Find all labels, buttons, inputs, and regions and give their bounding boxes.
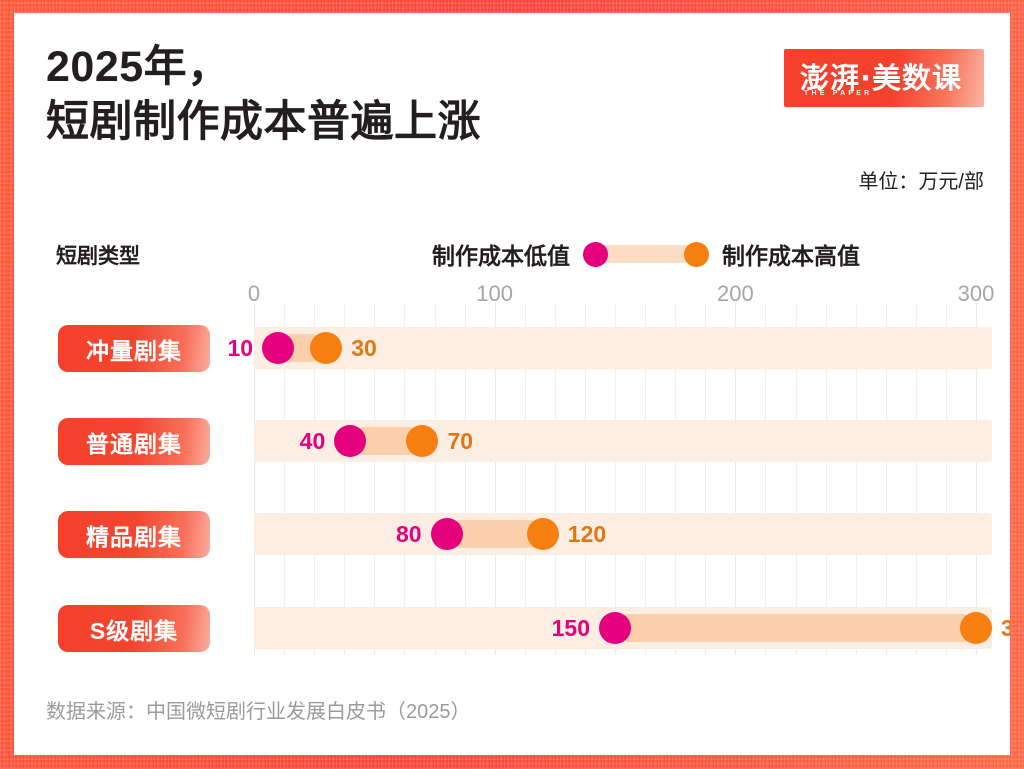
low-value-dot-icon[interactable]	[334, 425, 366, 457]
chart-area: 0100200300 冲量剧集1030普通剧集4070精品剧集80120S级剧集…	[14, 281, 1010, 671]
poster-canvas: 2025年， 短剧制作成本普遍上涨 澎湃·美数课 THE PAPER 单位：万元…	[0, 0, 1024, 769]
chart-row: 普通剧集4070	[14, 420, 1010, 468]
high-value-label: 300	[992, 615, 1010, 642]
chart-row: S级剧集150300	[14, 607, 1010, 655]
range-connector-bar	[615, 614, 976, 642]
x-tick-0: 0	[248, 281, 260, 307]
low-value-dot-icon[interactable]	[599, 612, 631, 644]
range-marker: 4070	[240, 427, 992, 455]
chart-legend: 制作成本低值 制作成本高值	[432, 237, 860, 271]
high-value-label: 120	[559, 521, 606, 548]
low-value-label: 10	[227, 335, 262, 362]
range-marker: 1030	[240, 334, 992, 362]
x-axis-tick-labels: 0100200300	[240, 281, 992, 311]
legend-swatch	[583, 241, 709, 267]
high-value-dot-icon[interactable]	[310, 332, 342, 364]
chart-row: 精品剧集80120	[14, 513, 1010, 561]
logo-subtitle: THE PAPER	[804, 90, 872, 97]
high-value-dot-icon[interactable]	[406, 425, 438, 457]
low-value-dot-icon[interactable]	[262, 332, 294, 364]
legend-label-high: 制作成本高值	[722, 237, 860, 271]
unit-label: 单位：万元/部	[858, 165, 984, 194]
range-marker: 150300	[240, 614, 992, 642]
category-pill-2[interactable]: 精品剧集	[58, 511, 210, 558]
high-value-label: 70	[438, 428, 473, 455]
range-marker: 80120	[240, 520, 992, 548]
high-value-label: 30	[342, 335, 377, 362]
source-note: 数据来源：中国微短剧行业发展白皮书（2025）	[46, 695, 471, 724]
title-line-1: 2025年，	[46, 40, 746, 95]
legend-label-low: 制作成本低值	[432, 237, 570, 271]
legend-high-dot-icon	[684, 242, 709, 267]
high-value-dot-icon[interactable]	[960, 612, 992, 644]
category-pill-3[interactable]: S级剧集	[58, 605, 210, 652]
low-value-dot-icon[interactable]	[431, 518, 463, 550]
category-axis-title: 短剧类型	[56, 240, 140, 270]
chart-row: 冲量剧集1030	[14, 327, 1010, 375]
x-tick-200: 200	[717, 281, 754, 307]
high-value-dot-icon[interactable]	[527, 518, 559, 550]
category-pill-1[interactable]: 普通剧集	[58, 418, 210, 465]
x-tick-300: 300	[958, 281, 995, 307]
low-value-label: 150	[552, 615, 599, 642]
publisher-logo: 澎湃·美数课 THE PAPER	[784, 49, 984, 107]
plot-area: 0100200300 冲量剧集1030普通剧集4070精品剧集80120S级剧集…	[240, 281, 992, 671]
legend-low-dot-icon	[583, 242, 608, 267]
low-value-label: 40	[300, 428, 335, 455]
infographic-canvas: 2025年， 短剧制作成本普遍上涨 澎湃·美数课 THE PAPER 单位：万元…	[14, 13, 1010, 755]
x-tick-100: 100	[476, 281, 513, 307]
low-value-label: 80	[396, 521, 431, 548]
page-title: 2025年， 短剧制作成本普遍上涨	[46, 40, 746, 150]
category-pill-0[interactable]: 冲量剧集	[58, 325, 210, 372]
title-line-2: 短剧制作成本普遍上涨	[46, 95, 746, 150]
